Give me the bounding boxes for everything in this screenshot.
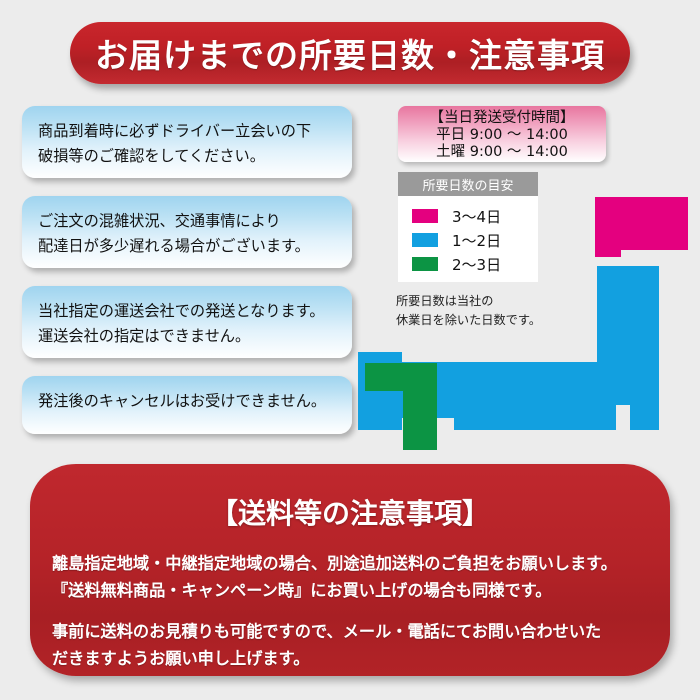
note-card-delivery-delay: ご注文の混雑状況、交通事情により 配達日が多少遅れる場合がございます。 bbox=[22, 196, 352, 268]
note-line: ご注文の混雑状況、交通事情により bbox=[38, 209, 336, 234]
map-region-hokkaido bbox=[595, 197, 688, 257]
japan-delivery-map bbox=[358, 180, 696, 455]
shipping-notice-line: 『送料無料商品・キャンペーン時』にお買い上げの場合も同様です。 bbox=[52, 577, 648, 604]
note-line: 商品到着時に必ずドライバー立会いの下 bbox=[38, 119, 336, 144]
shipping-notice-line: だきますようお願い申し上げます。 bbox=[52, 645, 648, 672]
note-line: 運送会社の指定はできません。 bbox=[38, 324, 336, 349]
hours-weekday: 平日 9:00 ～ 14:00 bbox=[398, 127, 606, 144]
map-region-tohoku bbox=[418, 266, 659, 430]
same-day-shipping-hours-box: 【当日発送受付時間】 平日 9:00 ～ 14:00 土曜 9:00 ～ 14:… bbox=[398, 106, 606, 162]
hours-title: 【当日発送受付時間】 bbox=[398, 109, 606, 127]
page-title: お届けまでの所要日数・注意事項 bbox=[95, 29, 605, 77]
page-header-banner: お届けまでの所要日数・注意事項 bbox=[70, 22, 630, 84]
paragraph-spacer bbox=[52, 604, 648, 618]
shipping-notice-title: 【送料等の注意事項】 bbox=[30, 492, 670, 532]
note-card-no-cancellation: 発注後のキャンセルはお受けできません。 bbox=[22, 376, 352, 434]
shipping-notice-body: 離島指定地域・中継指定地域の場合、別途追加送料のご負担をお願いします。 『送料無… bbox=[30, 550, 670, 672]
shipping-info-infographic: お届けまでの所要日数・注意事項 商品到着時に必ずドライバー立会いの下 破損等のご… bbox=[0, 0, 700, 700]
shipping-notice-line: 離島指定地域・中継指定地域の場合、別途追加送料のご負担をお願いします。 bbox=[52, 550, 648, 577]
shipping-notice-panel: 【送料等の注意事項】 離島指定地域・中継指定地域の場合、別途追加送料のご負担をお… bbox=[30, 464, 670, 676]
shipping-notice-line: 事前に送料のお見積りも可能ですので、メール・電話にてお問い合わせいた bbox=[52, 618, 648, 645]
map-region-shikoku bbox=[462, 395, 530, 430]
note-card-arrival-inspection: 商品到着時に必ずドライバー立会いの下 破損等のご確認をしてください。 bbox=[22, 106, 352, 178]
note-line: 配達日が多少遅れる場合がございます。 bbox=[38, 234, 336, 259]
hours-saturday: 土曜 9:00 ～ 14:00 bbox=[398, 144, 606, 161]
note-line: 発注後のキャンセルはお受けできません。 bbox=[38, 389, 336, 414]
note-card-carrier-designation: 当社指定の運送会社での発送となります。 運送会社の指定はできません。 bbox=[22, 286, 352, 358]
note-line: 破損等のご確認をしてください。 bbox=[38, 144, 336, 169]
note-line: 当社指定の運送会社での発送となります。 bbox=[38, 299, 336, 324]
